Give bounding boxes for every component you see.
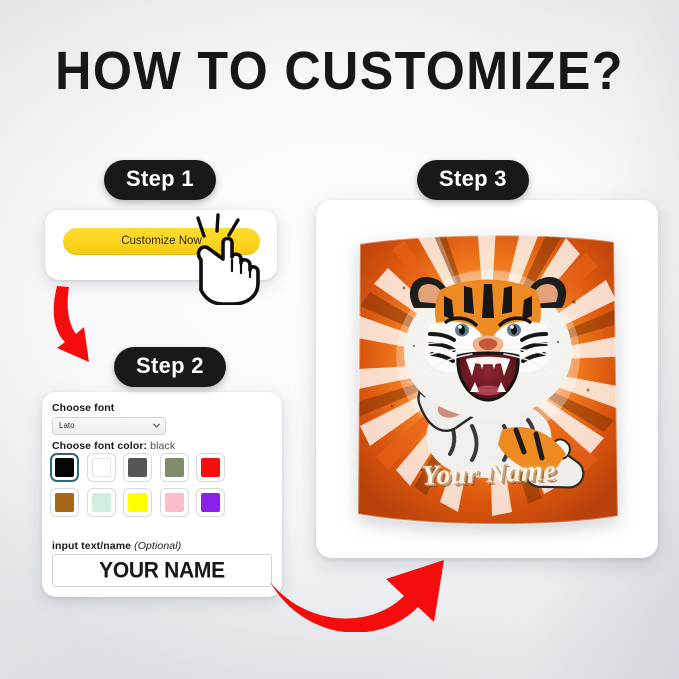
- choose-font-color-label: Choose font color: black: [52, 440, 175, 452]
- input-label-text: input text/name: [52, 540, 131, 552]
- name-text-input-value: YOUR NAME: [53, 554, 271, 587]
- color-swatch-fill: [92, 458, 111, 477]
- color-swatch-dark-gray[interactable]: [123, 453, 152, 482]
- swatch-row: [50, 453, 240, 482]
- name-text-input[interactable]: YOUR NAME: [52, 554, 272, 587]
- color-swatch-white[interactable]: [87, 453, 116, 482]
- page-title: HOW TO CUSTOMIZE?: [24, 44, 655, 98]
- color-swatch-fill: [165, 493, 184, 512]
- font-color-label-text: Choose font color:: [52, 440, 147, 452]
- product-preview: Your Name: [352, 230, 624, 530]
- color-swatch-black[interactable]: [50, 453, 79, 482]
- color-swatch-fill: [165, 458, 184, 477]
- step-3-badge: Step 3: [417, 160, 529, 200]
- color-swatch-purple[interactable]: [196, 488, 225, 517]
- color-swatch-sage-green[interactable]: [160, 453, 189, 482]
- color-swatch-fill: [92, 493, 111, 512]
- step-1-badge: Step 1: [104, 160, 216, 200]
- input-label-optional: (Optional): [134, 540, 181, 552]
- color-swatch-fill: [201, 458, 220, 477]
- color-swatch-fill: [55, 458, 74, 477]
- color-swatch-red[interactable]: [196, 453, 225, 482]
- color-swatch-yellow[interactable]: [123, 488, 152, 517]
- step-2-badge: Step 2: [114, 347, 226, 387]
- font-color-swatch-grid: [50, 453, 240, 523]
- font-select-value: Lato: [59, 418, 75, 434]
- choose-font-label: Choose font: [52, 402, 114, 414]
- color-swatch-pink[interactable]: [160, 488, 189, 517]
- color-swatch-fill: [201, 493, 220, 512]
- color-swatch-fill: [128, 493, 147, 512]
- color-swatch-brown[interactable]: [50, 488, 79, 517]
- color-swatch-mint[interactable]: [87, 488, 116, 517]
- chevron-down-icon: [153, 422, 160, 429]
- red-arrow-step2-to-step3: [268, 536, 458, 632]
- color-swatch-fill: [55, 493, 74, 512]
- font-select[interactable]: Lato: [52, 417, 166, 435]
- infographic-canvas: HOW TO CUSTOMIZE? Step 1 Customize Now S…: [0, 0, 679, 679]
- tiger-tie-dye-blanket-image: [352, 230, 624, 530]
- pointing-hand-icon: [168, 213, 280, 305]
- swatch-row: [50, 488, 240, 517]
- color-swatch-fill: [128, 458, 147, 477]
- font-color-value: black: [150, 440, 175, 452]
- input-text-name-label: input text/name (Optional): [52, 540, 181, 552]
